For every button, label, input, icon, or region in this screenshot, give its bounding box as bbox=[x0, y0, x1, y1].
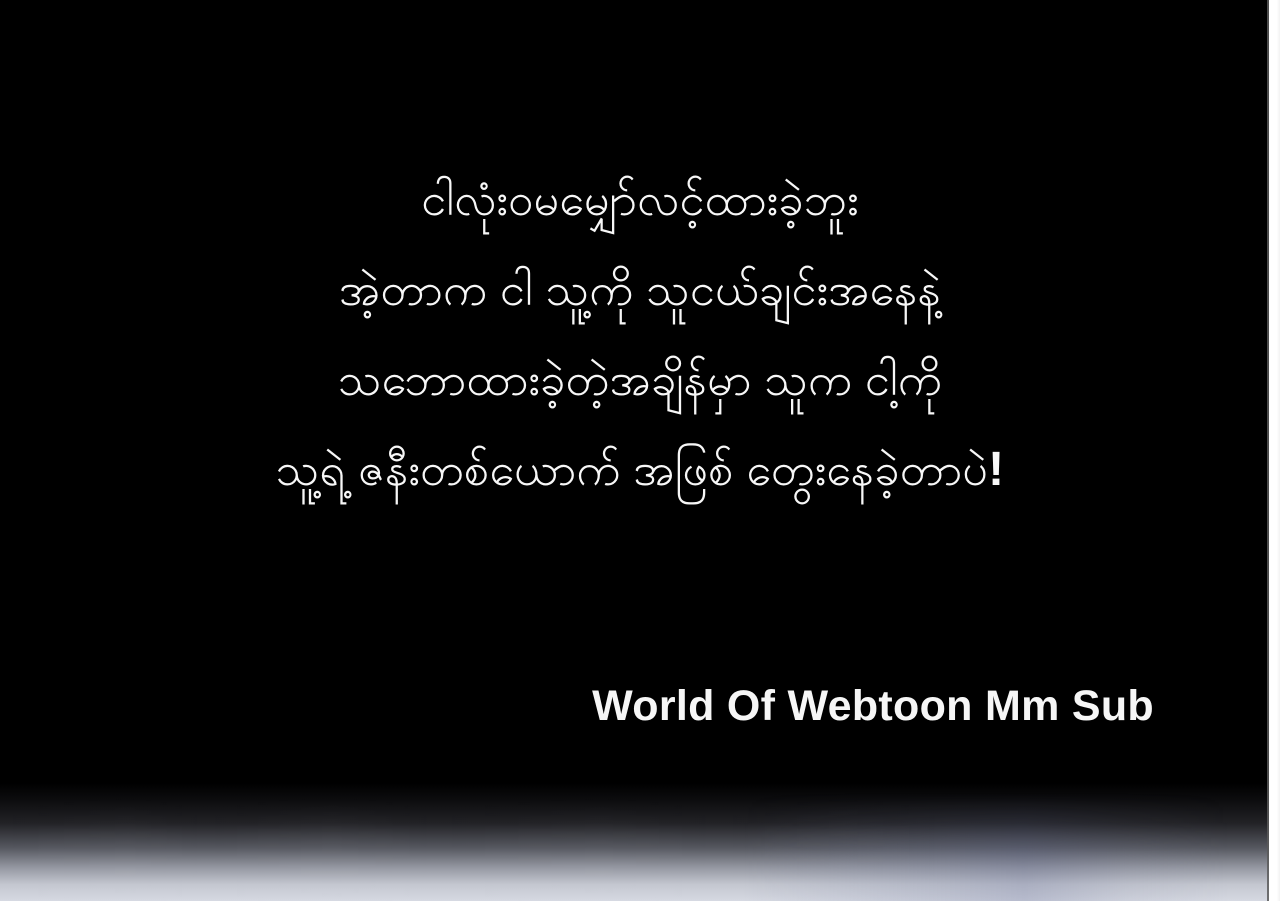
subtitle-line-2: အဲ့တာက ငါ သူ့ကို သူငယ်ချင်းအနေနဲ့ bbox=[40, 245, 1240, 335]
right-edge-white-strip bbox=[1269, 0, 1280, 901]
subtitle-line-4-text: သူ့ရဲ့ ဇနီးတစ်ယောက် အဖြစ် တွေးနေခဲ့တာပဲ bbox=[276, 444, 988, 495]
subtitle-line-3: သဘောထားခဲ့တဲ့အချိန်မှာ သူက ငါ့ကို bbox=[40, 335, 1240, 425]
subtitle-line-1: ငါလုံးဝမမျှော်လင့်ထားခဲ့ဘူး bbox=[40, 155, 1240, 245]
subtitle-text-block: ငါလုံးဝမမျှော်လင့်ထားခဲ့ဘူး အဲ့တာက ငါ သူ… bbox=[0, 155, 1280, 515]
credit-watermark: World Of Webtoon Mm Sub bbox=[592, 682, 1154, 731]
subtitle-panel: ငါလုံးဝမမျှော်လင့်ထားခဲ့ဘူး အဲ့တာက ငါ သူ… bbox=[0, 0, 1280, 901]
subtitle-line-4: သူ့ရဲ့ ဇနီးတစ်ယောက် အဖြစ် တွေးနေခဲ့တာပဲ! bbox=[40, 425, 1240, 515]
exclamation-mark: ! bbox=[988, 443, 1004, 496]
bottom-gradient-streaks bbox=[0, 783, 1280, 901]
